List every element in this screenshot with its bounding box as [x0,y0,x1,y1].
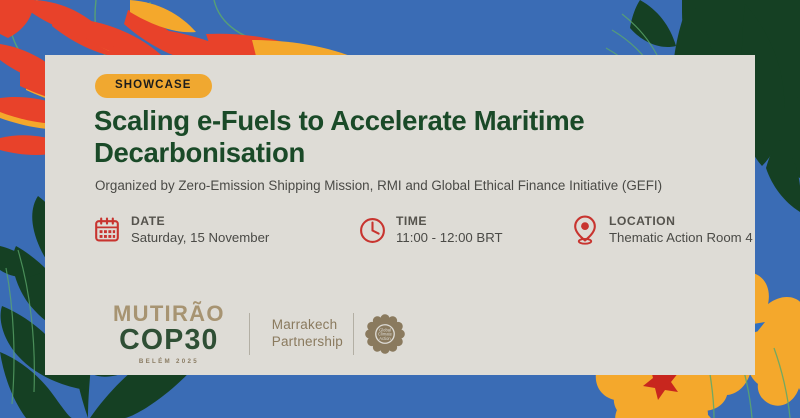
organizers-line: Organized by Zero-Emission Shipping Miss… [95,177,745,194]
meta-item-location: LOCATION Thematic Action Room 4 [570,207,753,253]
meta-label-location: LOCATION [609,214,753,229]
event-meta-row: DATE Saturday, 15 November TIME 11:00 - … [92,207,742,255]
meta-item-date: DATE Saturday, 15 November [92,207,269,253]
meta-text-date: DATE Saturday, 15 November [131,214,269,247]
clock-icon [357,214,387,246]
meta-value-time: 11:00 - 12:00 BRT [396,230,503,247]
marrakech-partnership-logo: Marrakech Partnership [249,313,406,355]
meta-text-location: LOCATION Thematic Action Room 4 [609,214,753,247]
meta-label-date: DATE [131,214,269,229]
emblem-line-3: Action [379,336,391,341]
logo-bar: MUTIRÃO COP30 BELÉM 2025 Marrakech Partn… [113,303,406,365]
marrakech-line-1: Marrakech [272,317,343,334]
meta-item-time: TIME 11:00 - 12:00 BRT [357,207,503,253]
cop30-logo-belem: BELÉM 2025 [113,359,225,365]
meta-value-date: Saturday, 15 November [131,230,269,247]
page-title: Scaling e-Fuels to Accelerate Maritime D… [94,105,714,169]
calendar-icon [92,214,122,246]
content-card: SHOWCASE Scaling e-Fuels to Accelerate M… [45,55,755,375]
global-climate-action-emblem: Global Climate Action [353,313,406,355]
marrakech-partnership-text: Marrakech Partnership [272,317,343,351]
location-pin-icon [570,214,600,246]
marrakech-line-2: Partnership [272,334,343,351]
event-promo-card: SHOWCASE Scaling e-Fuels to Accelerate M… [0,0,800,418]
meta-label-time: TIME [396,214,503,229]
meta-value-location: Thematic Action Room 4 [609,230,753,247]
cop30-logo-cop30: COP30 [113,326,225,355]
cop30-logo-mutirao: MUTIRÃO [113,303,225,325]
cop30-logo: MUTIRÃO COP30 BELÉM 2025 [113,303,225,365]
status-badge: SHOWCASE [95,74,212,98]
meta-text-time: TIME 11:00 - 12:00 BRT [396,214,503,247]
